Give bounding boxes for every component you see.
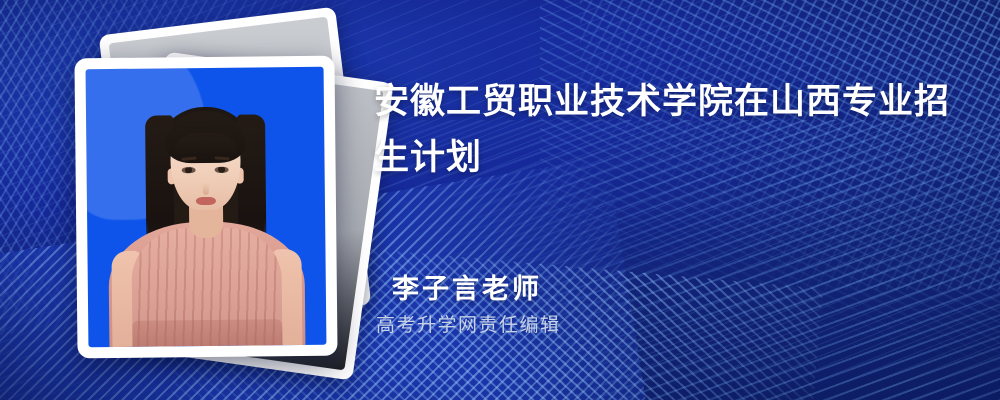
portrait-figure <box>86 67 327 347</box>
banner-copy: 安徽工贸职业技术学院在山西专业招生计划 李子言老师 高考升学网责任编辑 <box>374 0 974 400</box>
portrait-eye-left <box>182 167 196 173</box>
page-title: 安徽工贸职业技术学院在山西专业招生计划 <box>374 74 959 186</box>
photo-card-front <box>74 56 337 359</box>
photo-card-stack <box>48 32 348 362</box>
article-header-banner: 安徽工贸职业技术学院在山西专业招生计划 李子言老师 高考升学网责任编辑 <box>0 0 1000 400</box>
author-role: 高考升学网责任编辑 <box>376 314 561 338</box>
portrait-dress <box>131 227 282 347</box>
byline: 李子言老师 高考升学网责任编辑 <box>392 272 561 338</box>
portrait-eye-right <box>215 166 229 172</box>
portrait-mouth <box>196 197 216 205</box>
author-portrait-photo <box>86 67 327 347</box>
author-name: 李子言老师 <box>392 272 561 306</box>
portrait-nose <box>203 183 209 195</box>
